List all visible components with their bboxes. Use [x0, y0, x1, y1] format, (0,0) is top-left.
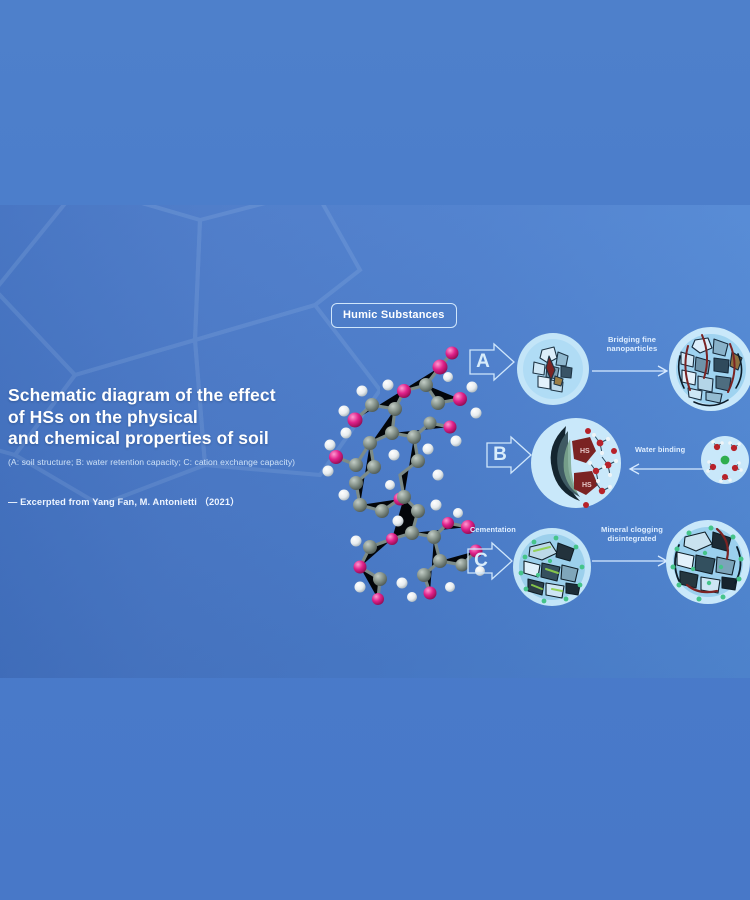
page-subtitle: (A: soil structure; B: water retention c… [8, 456, 348, 468]
poster-canvas: Schematic diagram of the effect of HSs o… [0, 0, 750, 900]
headline-block: Schematic diagram of the effect of HSs o… [8, 385, 348, 508]
soil-aggregate-loose-circle [516, 332, 590, 406]
panel-marker-c-letter: C [466, 541, 508, 581]
humic-substances-label: Humic Substances [331, 303, 457, 328]
humic-substance-water-shell-circle: HS HS [530, 417, 622, 509]
panel-a-arrow-icon [592, 363, 674, 379]
soil-aggregate-bridged-circle [668, 326, 750, 412]
svg-text:HS: HS [580, 448, 590, 455]
panel-marker-b-letter: B [485, 435, 527, 475]
hydrated-cation-circle [700, 435, 750, 485]
page-title-line-2: of HSs on the physical [8, 407, 348, 429]
panel-b-arrow-icon [625, 461, 705, 477]
panel-c-arrow-icon [592, 553, 674, 569]
panel-b-arrow-label: Water binding [635, 445, 685, 454]
panel-c-pre-label: Cementation [470, 525, 516, 534]
panel-c-arrow-label: Mineral clogging disintegrated [592, 525, 672, 544]
panel-row-a: A Bridging fi [468, 330, 750, 425]
citation-text: — Excerpted from Yang Fan, M. Antonietti… [8, 494, 348, 508]
panel-row-c: Cementation C [462, 517, 750, 617]
page-title-line-3: and chemical properties of soil [8, 428, 348, 450]
panel-row-b: B HS HS [485, 423, 750, 518]
disintegrated-mineral-aggregate-circle [665, 519, 750, 605]
page-title-line-1: Schematic diagram of the effect [8, 385, 348, 407]
svg-text:HS: HS [582, 482, 592, 489]
panel-marker-a-letter: A [468, 342, 510, 382]
panel-a-arrow-label: Bridging fine nanoparticles [592, 335, 672, 354]
cemented-mineral-aggregate-circle [512, 527, 592, 607]
content-band: Schematic diagram of the effect of HSs o… [0, 205, 750, 678]
